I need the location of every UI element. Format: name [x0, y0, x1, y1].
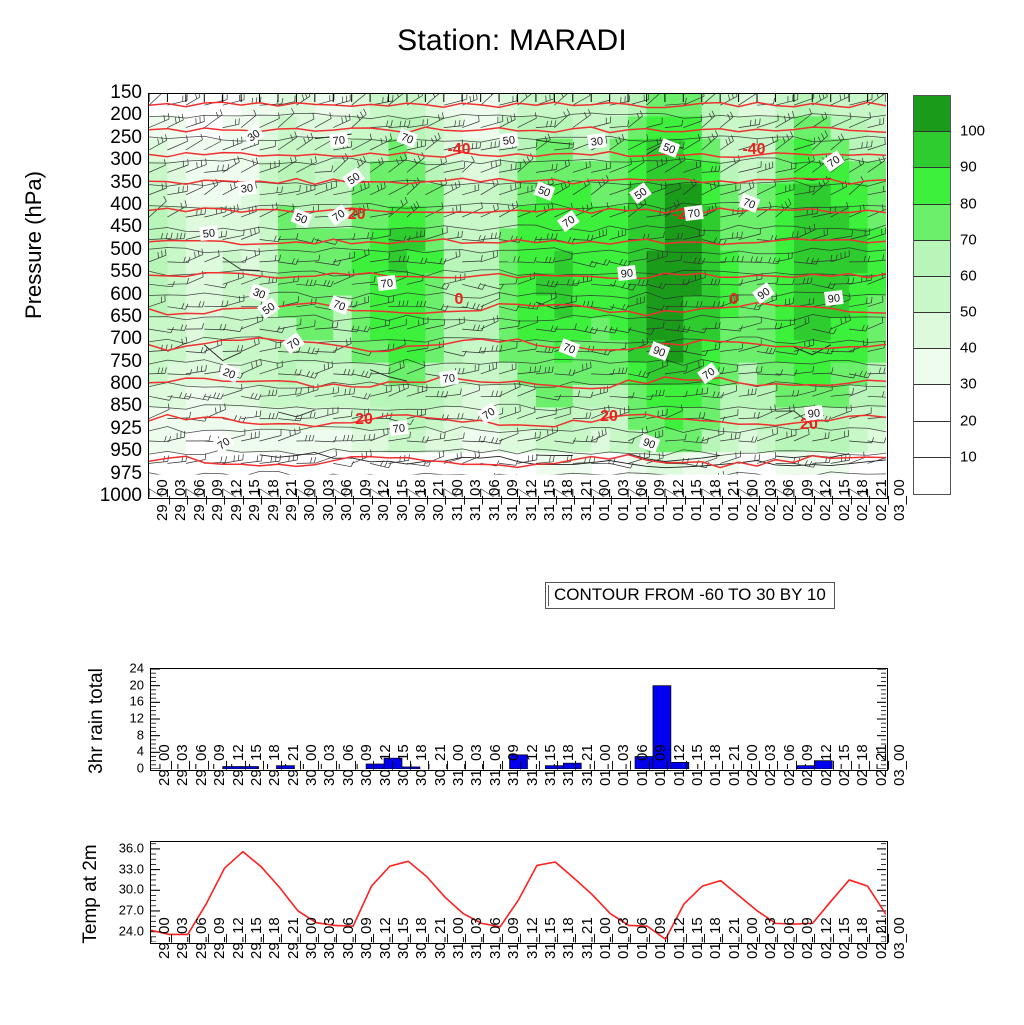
- main-x-tick: 29_03: [172, 479, 189, 521]
- temp-y-tick: 24.0: [119, 923, 144, 938]
- rain-x-tick: 02_00: [744, 744, 761, 786]
- temp-x-tick: 02_21: [873, 917, 890, 959]
- colorbar-band: [914, 96, 950, 132]
- rain-x-tick: 01_00: [597, 744, 614, 786]
- main-y-tick: 850: [110, 395, 142, 417]
- main-y-tick: 975: [110, 463, 142, 485]
- rain-x-tick: 30_06: [340, 744, 357, 786]
- humidity-colorbar[interactable]: [913, 95, 951, 495]
- rain-x-tick: 02_21: [873, 744, 890, 786]
- colorbar-band: [914, 168, 950, 204]
- temp-x-tick: 29_12: [230, 917, 247, 959]
- temp-x-tick: 30_03: [321, 917, 338, 959]
- main-x-tick: 30_18: [412, 479, 429, 521]
- svg-text:0: 0: [730, 291, 739, 308]
- page-title: Station: MARADI: [0, 24, 1024, 58]
- colorbar-tick: 70: [960, 231, 977, 248]
- main-y-tick: 500: [110, 239, 142, 261]
- colorbar-tick: 30: [960, 376, 977, 393]
- main-x-tick: 02_09: [799, 479, 816, 521]
- rain-x-tick: 30_09: [358, 744, 375, 786]
- main-x-tick: 31_18: [559, 479, 576, 521]
- main-y-tick: 1000: [100, 485, 142, 507]
- main-y-tick: 800: [110, 373, 142, 395]
- svg-text:30: 30: [590, 135, 604, 148]
- temp-x-tick: 03_00: [891, 917, 908, 959]
- main-x-tick: 01_00: [596, 479, 613, 521]
- main-x-tick: 02_21: [873, 479, 890, 521]
- main-y-tick: 250: [110, 127, 142, 149]
- rain-y-tick: 0: [137, 761, 144, 776]
- temp-x-tick: 01_12: [671, 917, 688, 959]
- svg-text:30: 30: [240, 182, 254, 195]
- main-x-tick: 03_00: [891, 479, 908, 521]
- temp-y-tick: 27.0: [119, 902, 144, 917]
- temp-x-tick: 02_09: [799, 917, 816, 959]
- rain-x-tick: 02_15: [836, 744, 853, 786]
- svg-text:70: 70: [332, 134, 346, 147]
- rain-x-tick: 31_15: [542, 744, 559, 786]
- svg-text:0: 0: [455, 291, 464, 308]
- colorbar-tick: 20: [960, 412, 977, 429]
- rain-x-tick: 01_18: [707, 744, 724, 786]
- svg-text:20: 20: [600, 408, 618, 425]
- main-x-tick: 30_21: [430, 479, 447, 521]
- temp-y-tick: 33.0: [119, 861, 144, 876]
- main-x-tick: 02_03: [762, 479, 779, 521]
- svg-text:-40: -40: [742, 141, 765, 158]
- main-x-tick: 29_00: [154, 479, 171, 521]
- temp-x-tick-labels: 29_0029_0329_0629_0929_1229_1529_1829_21…: [150, 955, 888, 1025]
- colorbar-band: [914, 385, 950, 421]
- main-x-tick: 02_00: [744, 479, 761, 521]
- main-x-tick: 31_03: [467, 479, 484, 521]
- svg-text:70: 70: [380, 277, 394, 290]
- main-y-tick: 550: [110, 261, 142, 283]
- rain-x-tick: 30_03: [321, 744, 338, 786]
- rain-y-tick: 20: [130, 677, 144, 692]
- main-y-tick: 750: [110, 351, 142, 373]
- rain-x-tick: 29_09: [211, 744, 228, 786]
- main-x-tick: 31_09: [504, 479, 521, 521]
- temp-x-tick: 29_15: [248, 917, 265, 959]
- colorbar-band: [914, 458, 950, 494]
- main-x-tick: 29_21: [283, 479, 300, 521]
- temp-x-tick: 29_21: [285, 917, 302, 959]
- colorbar-tick: 100: [960, 123, 985, 140]
- main-x-tick: 30_12: [375, 479, 392, 521]
- rain-x-tick: 02_09: [799, 744, 816, 786]
- humidity-time-height-plot[interactable]: -40-40-20-200020202030707050305070505070…: [148, 93, 888, 499]
- rain-x-tick: 31_06: [487, 744, 504, 786]
- temp-x-tick: 30_00: [303, 917, 320, 959]
- temp-y-tick: 30.0: [119, 882, 144, 897]
- temp-x-tick: 30_09: [358, 917, 375, 959]
- rain-x-tick: 31_09: [505, 744, 522, 786]
- rain-y-tick: 8: [137, 727, 144, 742]
- temp-x-tick: 02_12: [818, 917, 835, 959]
- main-x-tick: 02_18: [854, 479, 871, 521]
- main-x-tick: 01_12: [670, 479, 687, 521]
- svg-text:90: 90: [807, 407, 821, 420]
- main-y-tick: 950: [110, 440, 142, 462]
- colorbar-band: [914, 313, 950, 349]
- main-plot-svg: -40-40-20-200020202030707050305070505070…: [149, 94, 886, 497]
- svg-text:70: 70: [442, 372, 456, 385]
- main-x-tick: 30_00: [301, 479, 318, 521]
- temp-x-tick: 02_00: [744, 917, 761, 959]
- main-y-tick: 925: [110, 418, 142, 440]
- temp-x-tick: 02_06: [781, 917, 798, 959]
- temp-x-tick: 31_06: [487, 917, 504, 959]
- temp-x-tick: 01_18: [707, 917, 724, 959]
- main-x-tick: 29_15: [246, 479, 263, 521]
- temp-x-tick: 29_00: [156, 917, 173, 959]
- temp-x-tick: 29_06: [193, 917, 210, 959]
- rain-x-tick: 29_15: [248, 744, 265, 786]
- temp-x-tick: 01_00: [597, 917, 614, 959]
- rain-x-tick: 02_03: [762, 744, 779, 786]
- main-x-tick: 30_09: [357, 479, 374, 521]
- rain-y-tick: 12: [130, 711, 144, 726]
- main-x-tick: 01_06: [633, 479, 650, 521]
- rain-x-tick: 29_12: [230, 744, 247, 786]
- svg-text:-40: -40: [447, 141, 470, 158]
- temp-y-axis-title: Temp at 2m: [80, 789, 102, 999]
- temp-x-tick: 31_21: [579, 917, 596, 959]
- main-x-tick: 02_15: [836, 479, 853, 521]
- rain-x-tick: 31_03: [468, 744, 485, 786]
- temp-x-tick: 30_18: [413, 917, 430, 959]
- rain-x-tick: 01_06: [634, 744, 651, 786]
- temp-x-tick: 02_03: [762, 917, 779, 959]
- temp-x-tick: 02_15: [836, 917, 853, 959]
- temp-x-tick: 31_03: [468, 917, 485, 959]
- svg-text:90: 90: [620, 267, 634, 280]
- rain-x-tick: 29_21: [285, 744, 302, 786]
- main-y-axis-title: Pressure (hPa): [21, 115, 47, 375]
- rain-x-tick: 31_18: [560, 744, 577, 786]
- colorbar-tick: 10: [960, 448, 977, 465]
- main-y-tick: 350: [110, 172, 142, 194]
- colorbar-band: [914, 132, 950, 168]
- main-y-tick: 650: [110, 306, 142, 328]
- rain-x-tick: 03_00: [891, 744, 908, 786]
- temp-x-tick: 29_03: [174, 917, 191, 959]
- colorbar-band: [914, 205, 950, 241]
- rain-x-tick: 31_12: [524, 744, 541, 786]
- main-x-tick: 29_06: [191, 479, 208, 521]
- colorbar-band: [914, 349, 950, 385]
- main-x-tick: 31_15: [541, 479, 558, 521]
- colorbar-tick: 60: [960, 267, 977, 284]
- main-y-tick: 200: [110, 104, 142, 126]
- svg-text:50: 50: [502, 134, 516, 147]
- temp-x-tick: 31_18: [560, 917, 577, 959]
- main-y-tick: 150: [110, 82, 142, 104]
- temp-x-tick: 01_03: [615, 917, 632, 959]
- temp-x-tick: 29_09: [211, 917, 228, 959]
- temp-x-tick: 29_18: [266, 917, 283, 959]
- main-x-tick: 02_06: [780, 479, 797, 521]
- rain-x-tick: 01_12: [671, 744, 688, 786]
- main-x-tick: 31_00: [449, 479, 466, 521]
- main-x-tick: 31_06: [486, 479, 503, 521]
- svg-text:90: 90: [827, 292, 841, 305]
- rain-y-tick: 16: [130, 694, 144, 709]
- main-x-tick: 30_06: [338, 479, 355, 521]
- colorbar-band: [914, 277, 950, 313]
- rain-x-tick: 30_00: [303, 744, 320, 786]
- main-x-tick: 01_21: [725, 479, 742, 521]
- temp-x-tick: 31_15: [542, 917, 559, 959]
- main-x-tick: 31_12: [523, 479, 540, 521]
- temp-x-tick: 30_21: [432, 917, 449, 959]
- rain-x-tick: 01_15: [689, 744, 706, 786]
- main-x-tick: 29_09: [209, 479, 226, 521]
- rain-x-tick: 29_18: [266, 744, 283, 786]
- temp-x-tick: 30_15: [395, 917, 412, 959]
- colorbar-tick: 50: [960, 304, 977, 321]
- main-x-tick: 01_09: [651, 479, 668, 521]
- svg-text:70: 70: [687, 207, 701, 220]
- main-x-tick: 30_03: [320, 479, 337, 521]
- rain-x-tick: 02_18: [854, 744, 871, 786]
- main-y-tick: 400: [110, 194, 142, 216]
- temp-x-tick: 30_12: [377, 917, 394, 959]
- rain-x-tick: 01_21: [726, 744, 743, 786]
- rain-x-tick: 29_00: [156, 744, 173, 786]
- colorbar-band: [914, 422, 950, 458]
- colorbar-tick: 40: [960, 340, 977, 357]
- rain-x-tick: 30_18: [413, 744, 430, 786]
- main-x-tick: 01_03: [615, 479, 632, 521]
- colorbar-tick: 90: [960, 159, 977, 176]
- rain-x-tick: 01_09: [652, 744, 669, 786]
- main-y-tick: 300: [110, 149, 142, 171]
- rain-x-tick: 29_03: [174, 744, 191, 786]
- temp-x-tick: 31_12: [524, 917, 541, 959]
- rain-y-tick: 24: [130, 661, 144, 676]
- rain-x-tick: 31_21: [579, 744, 596, 786]
- main-x-tick: 30_15: [394, 479, 411, 521]
- main-x-tick: 29_12: [228, 479, 245, 521]
- main-y-tick-labels: 1502002503003504004505005506006507007508…: [58, 93, 142, 499]
- figure-root: Station: MARADI 150200250300350400450500…: [0, 0, 1024, 1024]
- temp-x-tick: 31_09: [505, 917, 522, 959]
- main-y-tick: 450: [110, 216, 142, 238]
- rain-x-tick: 02_12: [818, 744, 835, 786]
- temp-x-tick: 01_21: [726, 917, 743, 959]
- temp-x-tick: 02_18: [854, 917, 871, 959]
- temp-x-tick: 30_06: [340, 917, 357, 959]
- temp-y-tick: 36.0: [119, 840, 144, 855]
- rain-x-tick: 01_03: [615, 744, 632, 786]
- temp-x-tick: 01_15: [689, 917, 706, 959]
- colorbar-band: [914, 241, 950, 277]
- main-x-tick: 01_18: [707, 479, 724, 521]
- rain-x-tick: 29_06: [193, 744, 210, 786]
- contour-caption: CONTOUR FROM -60 TO 30 BY 10: [545, 582, 835, 609]
- svg-text:50: 50: [202, 227, 216, 240]
- temp-x-tick: 01_06: [634, 917, 651, 959]
- svg-text:20: 20: [355, 411, 373, 428]
- rain-x-tick: 31_00: [450, 744, 467, 786]
- temp-x-tick: 01_09: [652, 917, 669, 959]
- rain-x-tick: 30_12: [377, 744, 394, 786]
- rain-x-tick: 30_15: [395, 744, 412, 786]
- temp-x-tick: 31_00: [450, 917, 467, 959]
- colorbar-tick: 80: [960, 195, 977, 212]
- main-x-tick: 29_18: [265, 479, 282, 521]
- rain-y-tick: 4: [137, 744, 144, 759]
- main-x-tick-labels: 29_0029_0329_0629_0929_1229_1529_1829_21…: [148, 517, 888, 587]
- rain-x-tick: 30_21: [432, 744, 449, 786]
- main-x-tick: 31_21: [578, 479, 595, 521]
- rain-x-tick: 02_06: [781, 744, 798, 786]
- svg-text:70: 70: [392, 422, 406, 435]
- main-x-tick: 01_15: [688, 479, 705, 521]
- main-y-tick: 600: [110, 284, 142, 306]
- main-y-tick: 700: [110, 328, 142, 350]
- main-x-tick: 02_12: [817, 479, 834, 521]
